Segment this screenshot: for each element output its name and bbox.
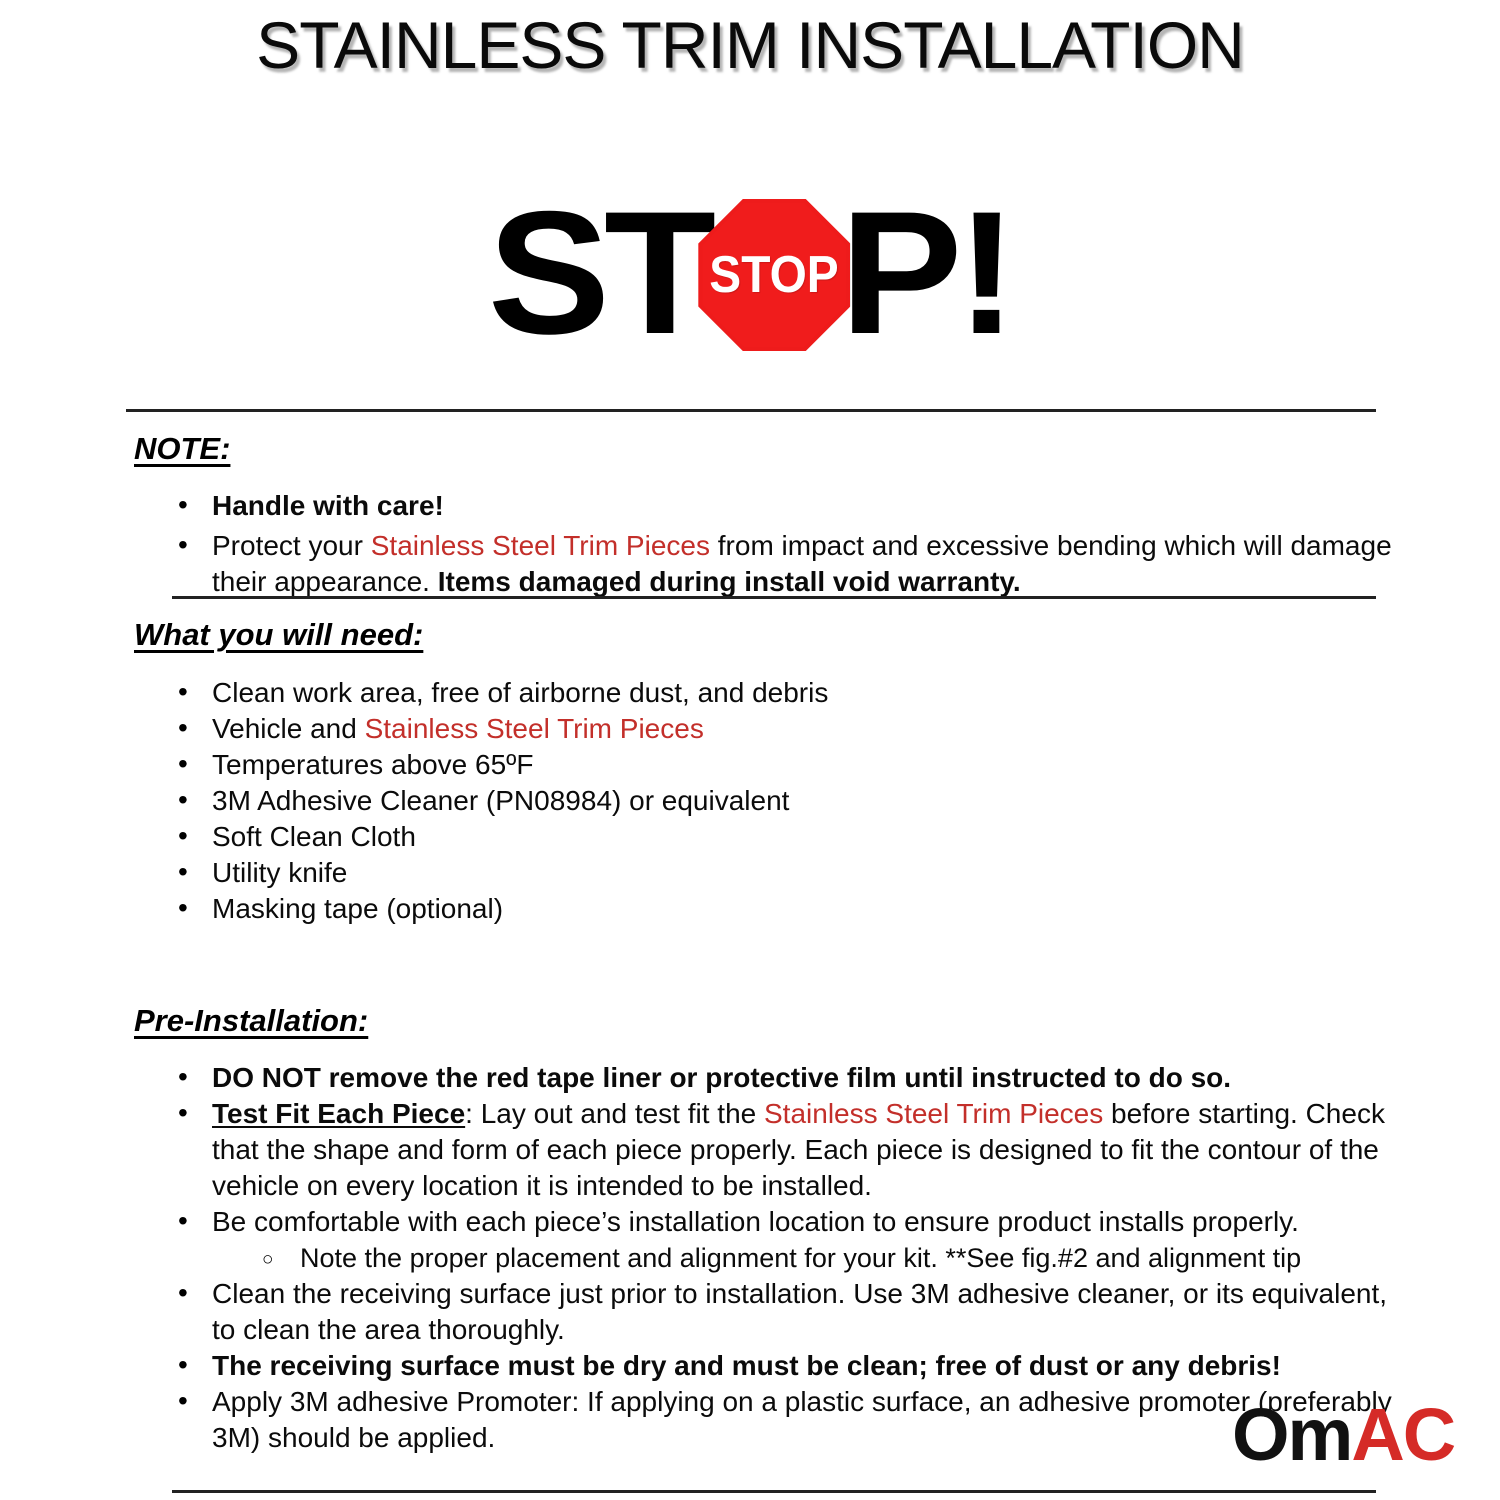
need-item-4-text: Soft Clean Cloth xyxy=(212,821,416,852)
preinst-item-1-part-2: Stainless Steel Trim Pieces xyxy=(764,1098,1103,1129)
list-item: Handle with care! xyxy=(0,488,1400,524)
list-item-sub: Note the proper placement and alignment … xyxy=(0,1240,1400,1276)
divider-bottom xyxy=(172,1490,1376,1493)
list-item: Utility knife xyxy=(0,855,1400,891)
need-item-5-text: Utility knife xyxy=(212,857,347,888)
list-item: Masking tape (optional) xyxy=(0,891,1400,927)
need-item-2-text: Temperatures above 65ºF xyxy=(212,749,534,780)
note-item-1-part-3: Items damaged during install void warran… xyxy=(438,566,1021,597)
page-title: STAINLESS TRIM INSTALLATION xyxy=(0,8,1500,84)
stop-graphic-left-text: ST xyxy=(487,186,709,361)
list-item: Clean the receiving surface just prior t… xyxy=(0,1276,1400,1348)
note-item-1-part-0: Protect your xyxy=(212,530,371,561)
omac-logo-dark-text: Om xyxy=(1232,1393,1351,1476)
list-item: 3M Adhesive Cleaner (PN08984) or equival… xyxy=(0,783,1400,819)
divider-note xyxy=(172,596,1376,599)
preinst-item-2-text: Be comfortable with each piece’s install… xyxy=(212,1206,1299,1237)
note-item-1-part-1: Stainless Steel Trim Pieces xyxy=(371,530,710,561)
preinst-item-6-text: Apply 3M adhesive Promoter: If applying … xyxy=(212,1386,1392,1453)
list-item: DO NOT remove the red tape liner or prot… xyxy=(0,1060,1400,1096)
preinst-item-1-part-1: : Lay out and test fit the xyxy=(465,1098,764,1129)
list-item: Temperatures above 65ºF xyxy=(0,747,1400,783)
stop-graphic: ST STOP P! xyxy=(0,178,1500,368)
preinst-item-3-text: Note the proper placement and alignment … xyxy=(300,1243,1301,1273)
need-item-6-text: Masking tape (optional) xyxy=(212,893,503,924)
stop-graphic-right-text: P! xyxy=(840,186,1011,361)
need-item-0-text: Clean work area, free of airborne dust, … xyxy=(212,677,828,708)
list-item: Clean work area, free of airborne dust, … xyxy=(0,675,1400,711)
need-item-1-part-1: Stainless Steel Trim Pieces xyxy=(365,713,704,744)
preinst-item-0-text: DO NOT remove the red tape liner or prot… xyxy=(212,1062,1231,1093)
list-item: Apply 3M adhesive Promoter: If applying … xyxy=(0,1384,1400,1456)
list-item: Protect your Stainless Steel Trim Pieces… xyxy=(0,528,1400,600)
list-item: Soft Clean Cloth xyxy=(0,819,1400,855)
preinst-item-1-part-0: Test Fit Each Piece xyxy=(212,1098,465,1129)
need-item-1-part-0: Vehicle and xyxy=(212,713,365,744)
need-item-3-text: 3M Adhesive Cleaner (PN08984) or equival… xyxy=(212,785,789,816)
list-item: The receiving surface must be dry and mu… xyxy=(0,1348,1400,1384)
preinst-item-5-text: The receiving surface must be dry and mu… xyxy=(212,1350,1281,1381)
stop-sign-icon: STOP xyxy=(698,199,850,351)
list-item: Be comfortable with each piece’s install… xyxy=(0,1204,1400,1240)
what-you-need-list: Clean work area, free of airborne dust, … xyxy=(0,675,1400,927)
section-heading-what-you-need: What you will need: xyxy=(134,617,423,653)
section-heading-pre-installation: Pre-Installation: xyxy=(134,1003,368,1039)
note-list: Handle with care! Protect your Stainless… xyxy=(0,488,1400,600)
list-item: Vehicle and Stainless Steel Trim Pieces xyxy=(0,711,1400,747)
omac-logo: OmAC xyxy=(1232,1398,1454,1472)
list-item: Test Fit Each Piece: Lay out and test fi… xyxy=(0,1096,1400,1204)
note-item-0-text: Handle with care! xyxy=(212,490,444,521)
preinst-item-4-text: Clean the receiving surface just prior t… xyxy=(212,1278,1387,1345)
omac-logo-red-text: AC xyxy=(1351,1393,1454,1476)
stop-sign-label: STOP xyxy=(704,199,844,351)
divider-top xyxy=(126,409,1376,412)
section-heading-note: NOTE: xyxy=(134,431,230,467)
pre-installation-list: DO NOT remove the red tape liner or prot… xyxy=(0,1060,1400,1456)
